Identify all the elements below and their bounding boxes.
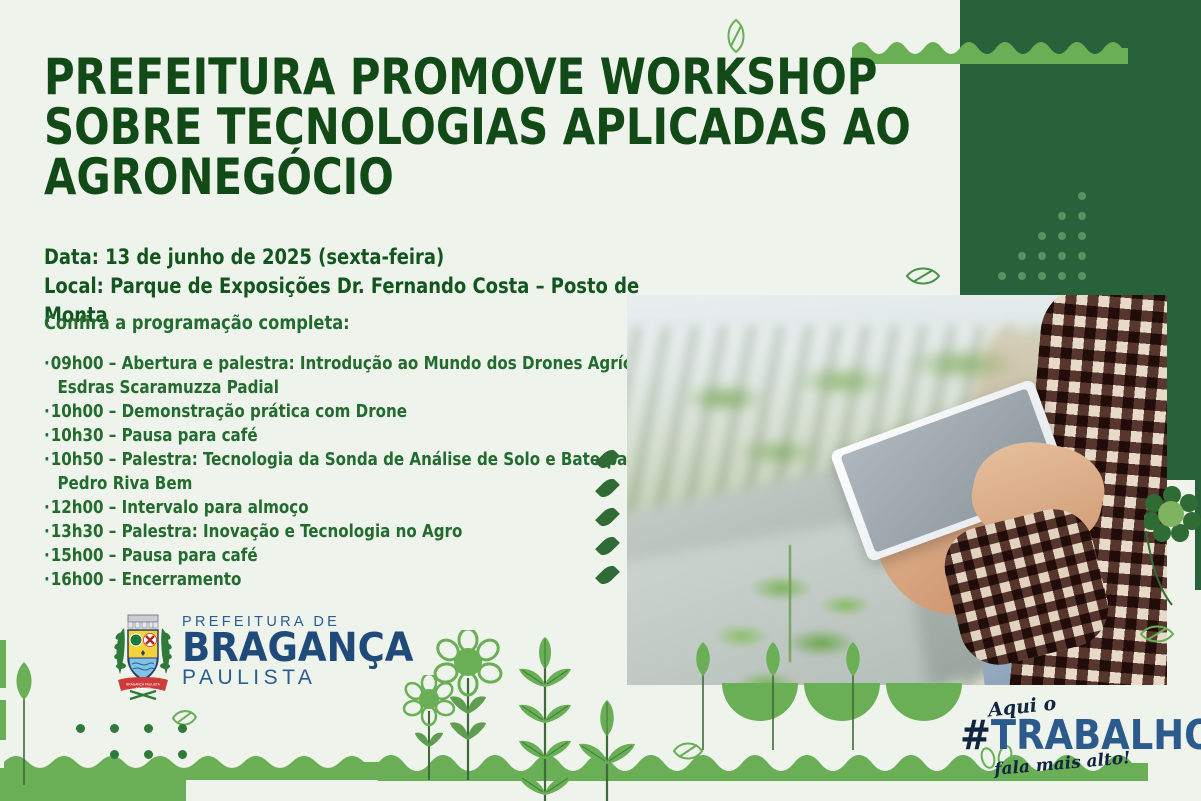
photo-plant-stem xyxy=(789,545,791,662)
schedule-time: 10h00 xyxy=(51,402,104,422)
svg-text:AO AGRO: AO AGRO xyxy=(136,687,151,691)
schedule-text: Demonstração prática com Drone xyxy=(122,402,407,422)
dash: – xyxy=(109,450,117,470)
schedule-item-cont: Esdras Scaramuzza Padial xyxy=(44,376,601,400)
schedule-text: Palestra: Inovação e Tecnologia no Agro xyxy=(122,522,463,542)
slogan-hash: # xyxy=(960,711,991,759)
leafy-stalk-short-icon xyxy=(574,690,640,801)
dash: – xyxy=(109,546,117,566)
dash: – xyxy=(109,570,117,590)
bullet: · xyxy=(44,402,51,422)
event-date: Data: 13 de junho de 2025 (sexta-feira) xyxy=(44,243,709,272)
event-photo xyxy=(627,295,1167,685)
schedule-text: Encerramento xyxy=(122,570,242,590)
schedule-item-cont: Pedro Riva Bem xyxy=(44,472,601,496)
sprout-icon xyxy=(838,640,868,750)
schedule-item: ·10h50 – Palestra: Tecnologia da Sonda d… xyxy=(44,448,601,472)
schedule-item: ·16h00 – Encerramento xyxy=(44,568,601,592)
bullet: · xyxy=(44,354,51,374)
bullet: · xyxy=(44,450,51,470)
leafy-stalk-tall-icon xyxy=(512,625,578,801)
schedule-item: ·10h00 – Demonstração prática com Drone xyxy=(44,400,601,424)
sprout-icon xyxy=(758,640,788,750)
prefeitura-logo: BRAGANÇA PAULISTA AO AGRO PREFEITURA DE … xyxy=(108,612,370,700)
slogan-lockup: Aqui o #TRABALHO fala mais alto! xyxy=(960,696,1160,782)
bullet: · xyxy=(44,546,51,566)
logo-wordmark: PREFEITURA DE BRAGANÇA PAULISTA xyxy=(182,614,372,689)
logo-line-braganca: BRAGANÇA xyxy=(182,630,378,666)
schedule-time: 10h50 xyxy=(51,450,104,470)
dash: – xyxy=(109,498,117,518)
bullet: · xyxy=(44,570,51,590)
ground-wave-left-decoration xyxy=(4,750,384,780)
dash: – xyxy=(109,522,117,542)
schedule-item: ·10h30 – Pausa para café xyxy=(44,424,601,448)
schedule-time: 13h30 xyxy=(51,522,104,542)
bullet: · xyxy=(44,522,51,542)
dash: – xyxy=(109,402,117,422)
wave-strip-decoration xyxy=(852,36,1128,64)
headline-line-3: AGRONEGÓCIO xyxy=(44,152,751,202)
bullet: · xyxy=(44,498,51,518)
sprout-icon xyxy=(688,640,718,750)
slogan-line-2: #TRABALHO xyxy=(960,714,1201,756)
sprout-icon xyxy=(6,660,42,785)
headline-line-2: SOBRE TECNOLOGIAS APLICADAS AO xyxy=(44,102,751,152)
flower-plant-large-icon xyxy=(430,630,506,785)
schedule-item: ·13h30 – Palestra: Inovação e Tecnologia… xyxy=(44,520,601,544)
schedule-list: ·09h00 – Abertura e palestra: Introdução… xyxy=(44,352,601,592)
schedule-text: Pausa para café xyxy=(122,426,258,446)
schedule-item: ·15h00 – Pausa para café xyxy=(44,544,601,568)
schedule-item: ·09h00 – Abertura e palestra: Introdução… xyxy=(44,352,601,376)
schedule-text: Pausa para café xyxy=(122,546,258,566)
schedule-time: 12h00 xyxy=(51,498,104,518)
dash: – xyxy=(109,354,117,374)
schedule-time: 15h00 xyxy=(51,546,104,566)
schedule-item: ·12h00 – Intervalo para almoço xyxy=(44,496,601,520)
schedule-text: Abertura e palestra: Introdução ao Mundo… xyxy=(122,354,713,374)
schedule-time: 09h00 xyxy=(51,354,104,374)
leaf-outline-icon xyxy=(905,262,941,290)
leaf-outline-icon xyxy=(722,18,750,54)
poster-root: PREFEITURA PROMOVE WORKSHOP SOBRE TECNOL… xyxy=(0,0,1201,801)
flower-icon xyxy=(1144,485,1201,615)
schedule-text: Intervalo para almoço xyxy=(122,498,309,518)
bullet: · xyxy=(44,426,51,446)
leaf-outline-icon xyxy=(1139,620,1175,648)
dash: – xyxy=(109,426,117,446)
schedule-time: 16h00 xyxy=(51,570,104,590)
schedule-time: 10h30 xyxy=(51,426,104,446)
programme-intro: Confira a programação completa: xyxy=(44,312,350,334)
headline-line-1: PREFEITURA PROMOVE WORKSHOP xyxy=(44,52,751,102)
page-title: PREFEITURA PROMOVE WORKSHOP SOBRE TECNOL… xyxy=(44,52,751,202)
coat-of-arms-icon: BRAGANÇA PAULISTA AO AGRO xyxy=(108,612,178,700)
